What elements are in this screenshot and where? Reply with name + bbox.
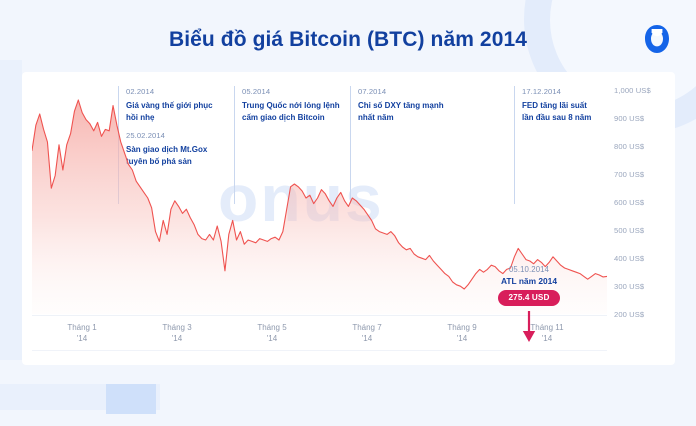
x-tick-month: Tháng 9 bbox=[447, 323, 476, 332]
x-tick-thang-5: Tháng 5 '14 bbox=[237, 322, 307, 344]
x-tick-year: '14 bbox=[457, 334, 467, 343]
y-tick: 700 US$ bbox=[614, 170, 675, 179]
x-tick-thang-7: Tháng 7 '14 bbox=[332, 322, 402, 344]
x-tick-year: '14 bbox=[362, 334, 372, 343]
x-tick-month: Tháng 1 bbox=[67, 323, 96, 332]
atl-callout: 05.10.2014 ATL năm 2014 275.4 USD bbox=[474, 265, 584, 306]
decorative-bar-bottom-accent bbox=[106, 384, 156, 414]
y-tick: 300 US$ bbox=[614, 282, 675, 291]
decorative-bar-bottom bbox=[0, 384, 160, 410]
y-tick: 400 US$ bbox=[614, 254, 675, 263]
down-arrow-icon bbox=[519, 311, 539, 345]
x-tick-year: '14 bbox=[542, 334, 552, 343]
x-tick-thang-9: Tháng 9 '14 bbox=[427, 322, 497, 344]
y-tick: 500 US$ bbox=[614, 226, 675, 235]
decorative-left-strip bbox=[0, 60, 22, 360]
x-tick-year: '14 bbox=[77, 334, 87, 343]
chart-card: onus 02.2014 Giá vàng thế giới phục hồi … bbox=[22, 72, 675, 365]
x-axis-bottom-rule bbox=[32, 350, 607, 351]
x-tick-year: '14 bbox=[267, 334, 277, 343]
x-tick-year: '14 bbox=[172, 334, 182, 343]
y-axis: 1,000 US$ 900 US$ 800 US$ 700 US$ 600 US… bbox=[614, 72, 675, 322]
infographic-root: Biểu đồ giá Bitcoin (BTC) năm 2014 onus … bbox=[0, 0, 696, 426]
y-tick: 900 US$ bbox=[614, 114, 675, 123]
atl-date: 05.10.2014 bbox=[474, 265, 584, 274]
atl-label: ATL năm 2014 bbox=[474, 276, 584, 286]
x-tick-month: Tháng 3 bbox=[162, 323, 191, 332]
atl-value-badge: 275.4 USD bbox=[498, 290, 561, 306]
x-tick-thang-1: Tháng 1 '14 bbox=[47, 322, 117, 344]
y-tick: 800 US$ bbox=[614, 142, 675, 151]
y-tick: 600 US$ bbox=[614, 198, 675, 207]
y-tick: 200 US$ bbox=[614, 310, 675, 319]
x-tick-month: Tháng 7 bbox=[352, 323, 381, 332]
x-tick-thang-3: Tháng 3 '14 bbox=[142, 322, 212, 344]
y-tick: 1,000 US$ bbox=[614, 86, 675, 95]
page-title: Biểu đồ giá Bitcoin (BTC) năm 2014 bbox=[0, 28, 696, 52]
x-tick-month: Tháng 5 bbox=[257, 323, 286, 332]
